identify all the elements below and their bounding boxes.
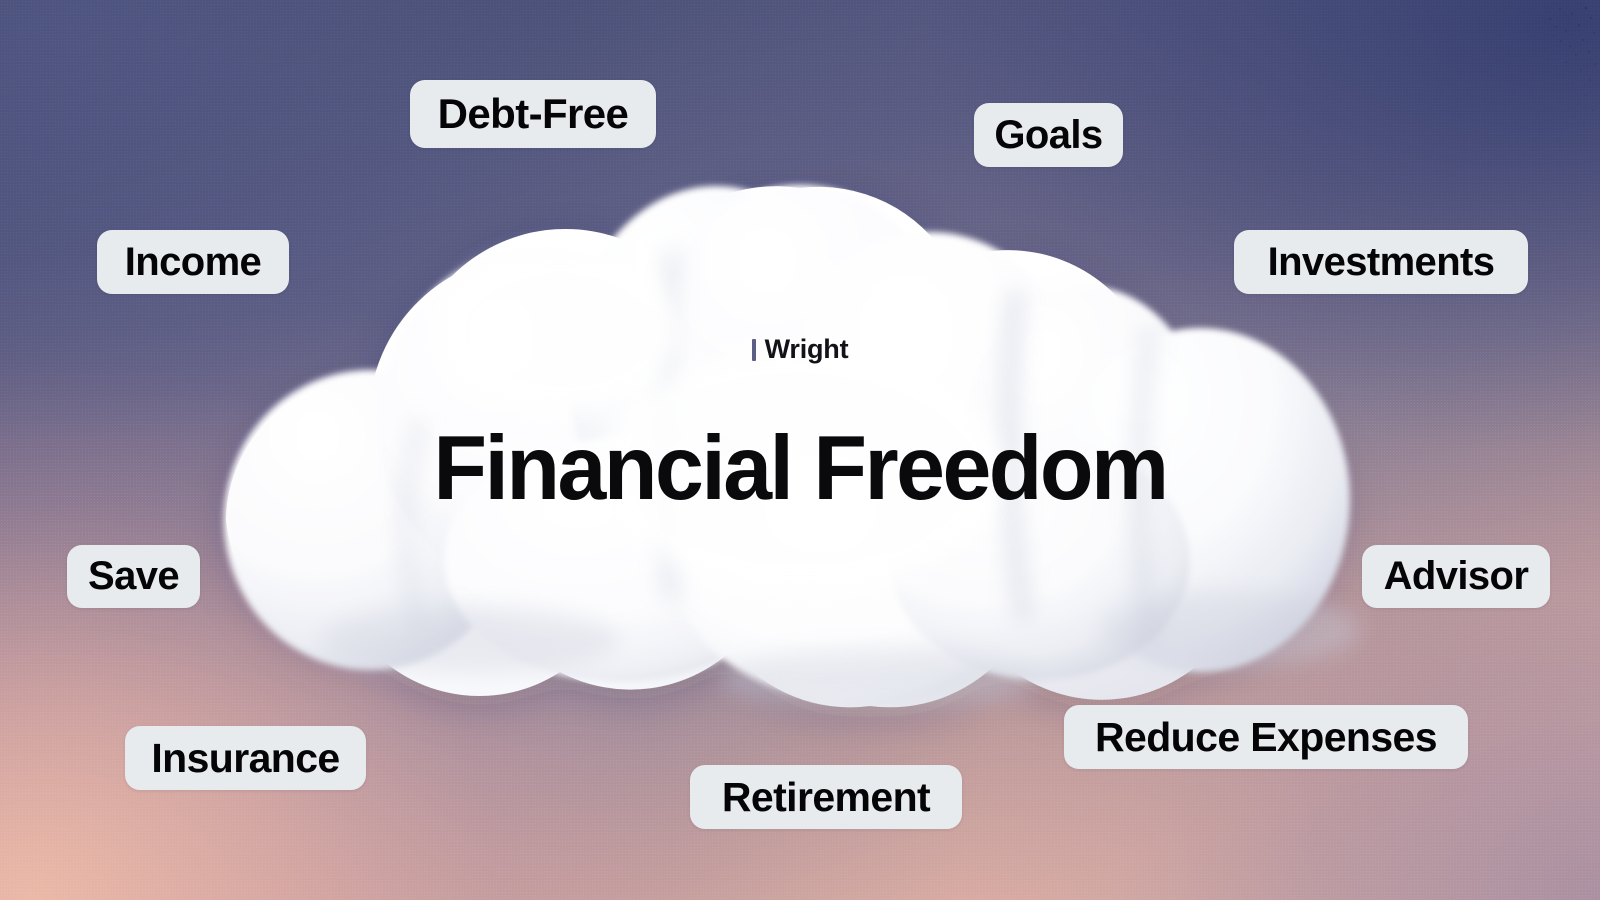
brand-bar-icon: [752, 339, 756, 361]
keyword-pill-reduce-expenses[interactable]: Reduce Expenses: [1064, 705, 1468, 769]
keyword-pill-advisor[interactable]: Advisor: [1362, 545, 1550, 608]
page-title: Financial Freedom: [28, 423, 1572, 514]
keyword-pill-income[interactable]: Income: [97, 230, 289, 294]
corner-speckle-icon: [1390, 0, 1600, 170]
keyword-pill-debt-free[interactable]: Debt-Free: [410, 80, 656, 148]
keyword-pill-retirement[interactable]: Retirement: [690, 765, 962, 829]
keyword-pill-insurance[interactable]: Insurance: [125, 726, 366, 790]
brand-lockup: Wright: [0, 334, 1600, 365]
brand-name: Wright: [765, 334, 849, 364]
keyword-pill-goals[interactable]: Goals: [974, 103, 1123, 167]
poster-canvas: Wright Financial Freedom Debt-FreeGoalsI…: [0, 0, 1600, 900]
keyword-pill-investments[interactable]: Investments: [1234, 230, 1528, 294]
keyword-pill-save[interactable]: Save: [67, 545, 200, 608]
